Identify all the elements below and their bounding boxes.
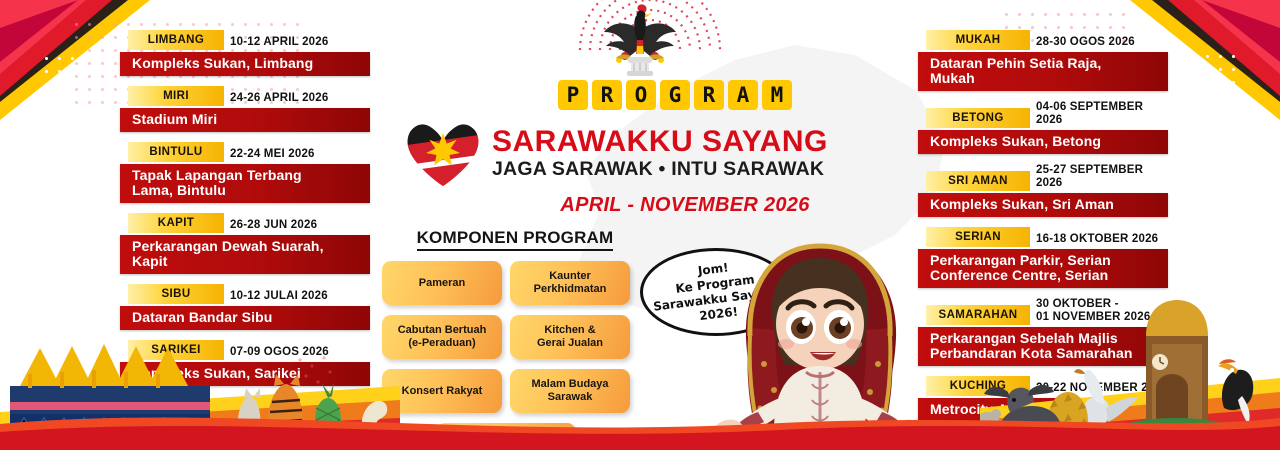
event-city-chip: MUKAH — [926, 30, 1030, 50]
schedule-column-left: LIMBANG10-12 APRIL 2026Kompleks Sukan, L… — [120, 30, 370, 396]
event-entry[interactable]: SARIKEI07-09 OGOS 2026Kompleks Sukan, Sa… — [120, 340, 370, 386]
sarawak-heart-logo-icon — [400, 116, 486, 190]
event-header: BINTULU22-24 MEI 2026 — [128, 142, 370, 162]
event-venue-bar: Perkarangan Parkir, Serian Conference Ce… — [918, 249, 1168, 288]
event-date: 30 OKTOBER - 01 NOVEMBER 2026 — [1036, 298, 1150, 325]
event-city-chip: SERIAN — [926, 227, 1030, 247]
event-city-chip: BETONG — [926, 108, 1030, 128]
event-entry[interactable]: SERIAN16-18 OKTOBER 2026Perkarangan Park… — [918, 227, 1168, 288]
brand-title: SARAWAKKU SAYANG — [492, 126, 880, 158]
program-tile-r-4: R — [694, 80, 724, 110]
brand-subtitle: JAGA SARAWAK • INTU SARAWAK — [492, 158, 880, 180]
event-header: SARIKEI07-09 OGOS 2026 — [128, 340, 370, 360]
event-venue-bar: Perkarangan Sebelah Majlis Perbandaran K… — [918, 327, 1168, 366]
event-date: 25-27 SEPTEMBER 2026 — [1036, 164, 1168, 191]
event-city-chip: KUCHING — [926, 376, 1030, 396]
program-tile-p-0: P — [558, 80, 588, 110]
bottom-wave-ribbon — [0, 398, 1280, 450]
event-header: SERIAN16-18 OKTOBER 2026 — [926, 227, 1168, 247]
program-tile-o-2: O — [626, 80, 656, 110]
event-header: BETONG04-06 SEPTEMBER 2026 — [926, 101, 1168, 128]
event-venue-bar: Tapak Lapangan Terbang Lama, Bintulu — [120, 164, 370, 203]
event-header: KAPIT26-28 JUN 2026 — [128, 213, 370, 233]
event-date: 20-22 NOVEMBER 2026 — [1036, 382, 1168, 396]
schedule-column-right: MUKAH28-30 OGOS 2026Dataran Pehin Setia … — [918, 30, 1168, 432]
event-city-chip: SARIKEI — [128, 340, 224, 360]
event-header: SIBU10-12 JULAI 2026 — [128, 284, 370, 304]
event-venue-bar: Kompleks Sukan, Betong — [918, 130, 1168, 154]
event-date: 28-30 OGOS 2026 — [1036, 36, 1135, 50]
event-entry[interactable]: BETONG04-06 SEPTEMBER 2026Kompleks Sukan… — [918, 101, 1168, 154]
event-date: 26-28 JUN 2026 — [230, 219, 317, 233]
event-date: 04-06 SEPTEMBER 2026 — [1036, 101, 1168, 128]
event-entry[interactable]: SAMARAHAN30 OKTOBER - 01 NOVEMBER 2026Pe… — [918, 298, 1168, 366]
sarawak-coat-of-arms-icon — [600, 2, 680, 80]
event-city-chip: LIMBANG — [128, 30, 224, 50]
event-venue-bar: Kompleks Sukan, Sri Aman — [918, 193, 1168, 217]
komponen-pill[interactable]: Kaunter Perkhidmatan — [510, 261, 630, 305]
event-header: MIRI24-26 APRIL 2026 — [128, 86, 370, 106]
event-date: 10-12 JULAI 2026 — [230, 290, 328, 304]
branding-block: PROGRAM — [400, 80, 880, 217]
event-entry[interactable]: SRI AMAN25-27 SEPTEMBER 2026Kompleks Suk… — [918, 164, 1168, 217]
program-tile-m-6: M — [762, 80, 792, 110]
event-venue-bar: Kompleks Sukan, Limbang — [120, 52, 370, 76]
program-tile-g-3: G — [660, 80, 690, 110]
komponen-pill[interactable]: Cabutan Bertuah (e-Peraduan) — [382, 315, 502, 359]
event-city-chip: BINTULU — [128, 142, 224, 162]
event-header: SAMARAHAN30 OKTOBER - 01 NOVEMBER 2026 — [926, 298, 1168, 325]
event-city-chip: SAMARAHAN — [926, 305, 1030, 325]
event-header: MUKAH28-30 OGOS 2026 — [926, 30, 1168, 50]
event-entry[interactable]: SIBU10-12 JULAI 2026Dataran Bandar Sibu — [120, 284, 370, 330]
event-date: 10-12 APRIL 2026 — [230, 36, 328, 50]
event-city-chip: SIBU — [128, 284, 224, 304]
event-date: 22-24 MEI 2026 — [230, 148, 315, 162]
event-venue-bar: Stadium Miri — [120, 108, 370, 132]
event-entry[interactable]: KAPIT26-28 JUN 2026Perkarangan Dewah Sua… — [120, 213, 370, 274]
poster-canvas: LIMBANG10-12 APRIL 2026Kompleks Sukan, L… — [0, 0, 1280, 450]
event-entry[interactable]: BINTULU22-24 MEI 2026Tapak Lapangan Terb… — [120, 142, 370, 203]
event-entry[interactable]: MIRI24-26 APRIL 2026Stadium Miri — [120, 86, 370, 132]
program-tile-r-1: R — [592, 80, 622, 110]
event-date: 16-18 OKTOBER 2026 — [1036, 233, 1158, 247]
event-venue-bar: Dataran Pehin Setia Raja, Mukah — [918, 52, 1168, 91]
event-entry[interactable]: MUKAH28-30 OGOS 2026Dataran Pehin Setia … — [918, 30, 1168, 91]
event-date: 07-09 OGOS 2026 — [230, 346, 329, 360]
program-word-tiles: PROGRAM — [470, 80, 880, 110]
event-city-chip: MIRI — [128, 86, 224, 106]
event-city-chip: SRI AMAN — [926, 171, 1030, 191]
event-venue-bar: Kompleks Sukan, Sarikei — [120, 362, 370, 386]
event-venue-bar: Dataran Bandar Sibu — [120, 306, 370, 330]
event-city-chip: KAPIT — [128, 213, 224, 233]
event-date: 24-26 APRIL 2026 — [230, 92, 328, 106]
event-header: KUCHING20-22 NOVEMBER 2026 — [926, 376, 1168, 396]
program-tile-a-5: A — [728, 80, 758, 110]
event-header: SRI AMAN25-27 SEPTEMBER 2026 — [926, 164, 1168, 191]
event-venue-bar: Perkarangan Dewah Suarah, Kapit — [120, 235, 370, 274]
event-header: LIMBANG10-12 APRIL 2026 — [128, 30, 370, 50]
komponen-pill[interactable]: Kitchen & Gerai Jualan — [510, 315, 630, 359]
brand-date-range: APRIL - NOVEMBER 2026 — [400, 194, 880, 217]
komponen-program-title: KOMPONEN PROGRAM — [417, 228, 614, 251]
komponen-pill[interactable]: Pameran — [382, 261, 502, 305]
event-entry[interactable]: LIMBANG10-12 APRIL 2026Kompleks Sukan, L… — [120, 30, 370, 76]
